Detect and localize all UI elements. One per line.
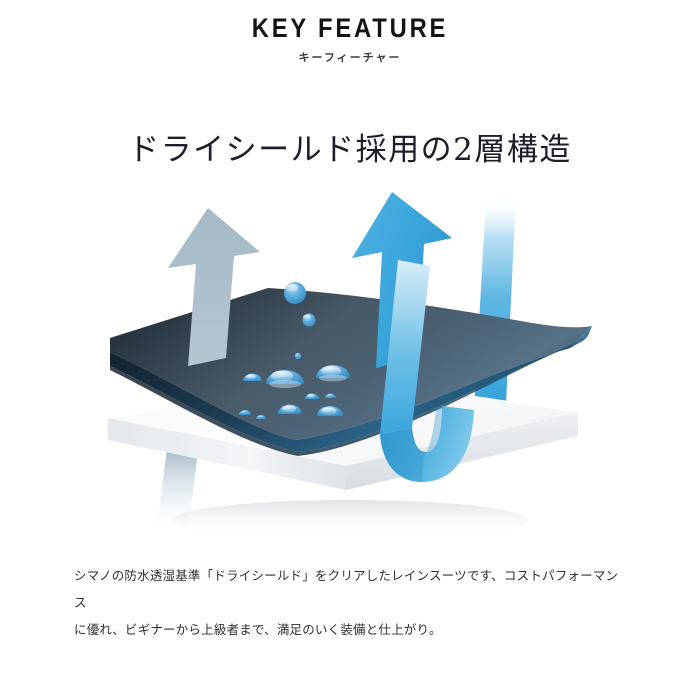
- description-line-1: シマノの防水透湿基準「ドライシールド」をクリアしたレインスーツです、コストパフォ…: [74, 563, 630, 617]
- page-title: KEY FEATURE: [42, 14, 658, 42]
- header: KEY FEATURE キーフィーチャー: [0, 0, 700, 65]
- base-shadow: [172, 500, 528, 540]
- feature-headline: ドライシールド採用の2層構造: [0, 124, 700, 169]
- droplet: [284, 282, 306, 304]
- key-feature-page: KEY FEATURE キーフィーチャー ドライシールド採用の2層構造: [0, 0, 700, 700]
- description-line-2: に優れ、ビギナーから上級者まで、満足のいく装備と仕上がり。: [74, 617, 630, 644]
- feature-description: シマノの防水透湿基準「ドライシールド」をクリアしたレインスーツです、コストパフォ…: [74, 563, 630, 644]
- diagram-svg: [100, 190, 600, 550]
- page-subtitle: キーフィーチャー: [0, 49, 700, 65]
- two-layer-diagram: [100, 190, 600, 550]
- droplet: [303, 314, 316, 327]
- droplet: [295, 353, 301, 359]
